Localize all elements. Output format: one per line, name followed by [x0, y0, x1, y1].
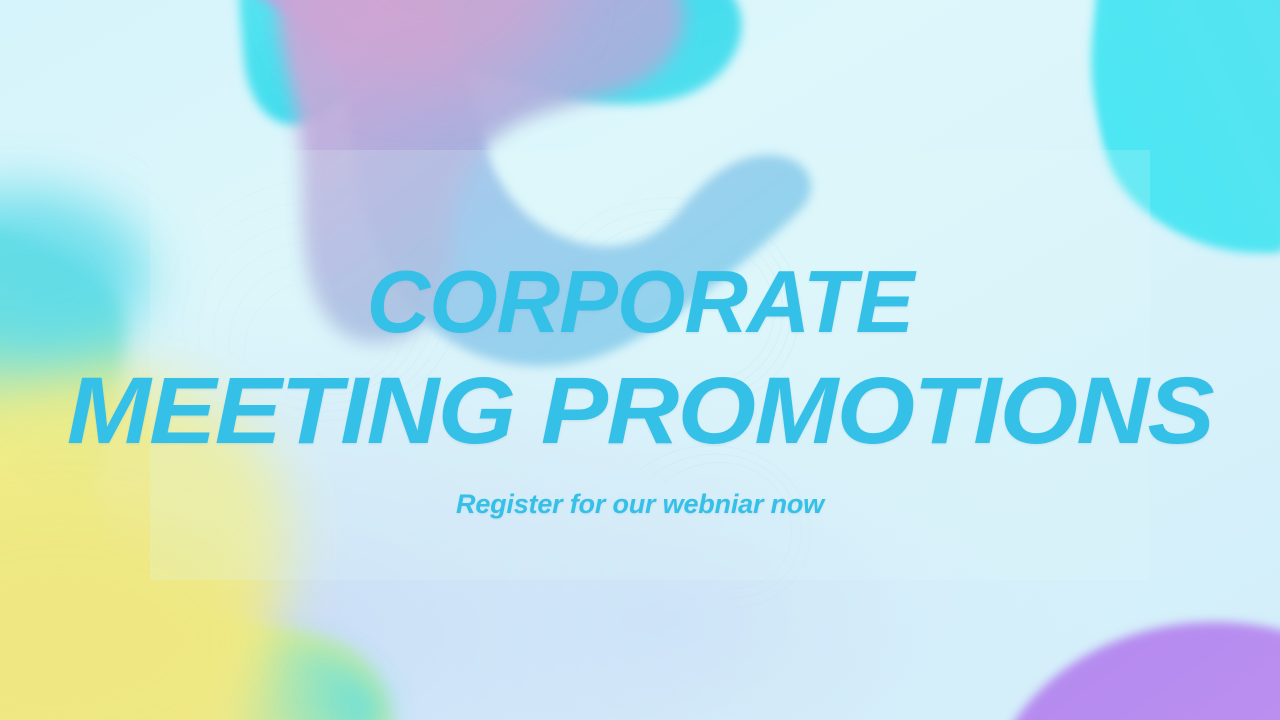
headline-line-2: MEETING PROMOTIONS [0, 364, 1280, 459]
poster-text-block: CORPORATE MEETING PROMOTIONS Register fo… [0, 0, 1280, 720]
subheadline: Register for our webniar now [0, 490, 1280, 520]
headline-line-1: CORPORATE [0, 258, 1280, 346]
promo-poster: CORPORATE MEETING PROMOTIONS Register fo… [0, 0, 1280, 720]
